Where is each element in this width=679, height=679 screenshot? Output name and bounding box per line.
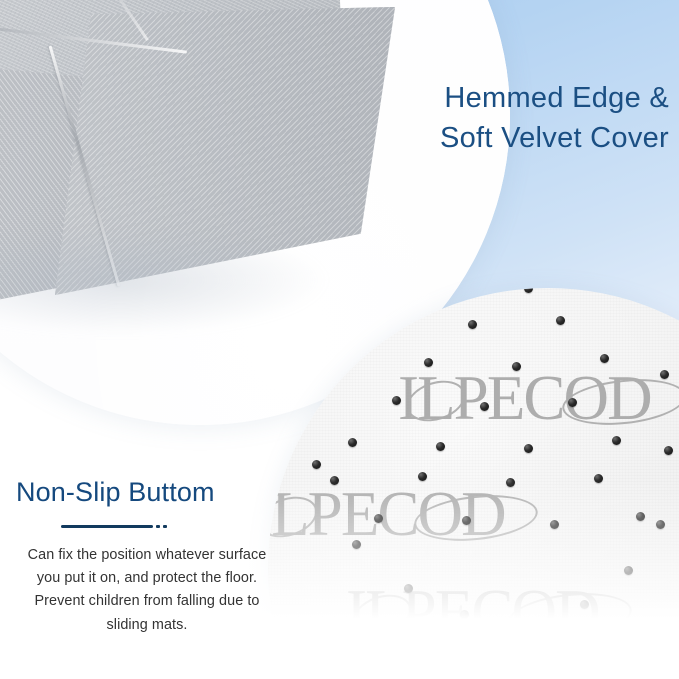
- mat-grip-dot: [380, 312, 389, 321]
- mat-grip-dot: [520, 628, 529, 637]
- mat-grip-dot: [404, 584, 413, 593]
- mat-grip-dot: [568, 398, 577, 407]
- feature-description: Can fix the position whatever surface yo…: [16, 544, 278, 637]
- divider-line: [61, 525, 153, 528]
- watermark-swash: [402, 374, 471, 429]
- mat-grip-dot: [460, 610, 469, 619]
- mat-grip-dot: [556, 316, 565, 325]
- brand-watermark: ILPECOD: [346, 576, 599, 649]
- mat-grip-dot: [506, 478, 515, 487]
- brand-watermark: ILPECOD: [268, 478, 505, 551]
- mat-grip-dot: [524, 444, 533, 453]
- mat-grip-dot: [480, 402, 489, 411]
- mat-grip-dot: [348, 438, 357, 447]
- mat-grip-dot: [424, 358, 433, 367]
- heading-line-2: Soft Velvet Cover: [249, 118, 669, 158]
- mat-grip-dot: [352, 540, 361, 549]
- mat-grip-dot: [594, 474, 603, 483]
- divider-dot: [163, 525, 167, 528]
- product-infographic: ILPECOD ILPECOD ILPECOD Hemmed Edge & So…: [0, 0, 679, 679]
- mat-grip-dot: [418, 472, 427, 481]
- mat-grip-dot: [286, 380, 295, 389]
- watermark-swash: [348, 588, 417, 643]
- mat-grip-dot: [336, 356, 345, 365]
- non-slip-feature-block: Non-Slip Buttom Can fix the position wha…: [16, 478, 278, 637]
- mat-grip-dot: [636, 512, 645, 521]
- mat-grip-dot: [656, 520, 665, 529]
- mat-grip-dot: [580, 600, 589, 609]
- mat-photo-circle: ILPECOD ILPECOD ILPECOD: [268, 288, 679, 679]
- mat-grip-dot: [612, 436, 621, 445]
- mat-grip-dot: [304, 398, 313, 407]
- heading-line-1: Hemmed Edge &: [249, 78, 669, 118]
- hemmed-edge-heading: Hemmed Edge & Soft Velvet Cover: [249, 78, 669, 158]
- mat-grip-dot: [374, 514, 383, 523]
- mat-grip-dot: [624, 566, 633, 575]
- divider-dot: [156, 525, 160, 528]
- mat-grip-dot: [660, 370, 669, 379]
- mat-grip-dot: [292, 318, 301, 327]
- mat-grip-dot: [392, 396, 401, 405]
- mat-grip-dot: [330, 476, 339, 485]
- mat-grip-dot: [664, 446, 673, 455]
- brand-watermark: ILPECOD: [398, 362, 651, 435]
- mat-grip-dot: [272, 300, 281, 309]
- title-divider: [61, 525, 278, 528]
- mat-watermark-group: ILPECOD ILPECOD ILPECOD: [268, 288, 679, 679]
- mat-grip-dot: [648, 296, 657, 305]
- mat-grip-dot: [312, 460, 321, 469]
- mat-grip-dot: [600, 354, 609, 363]
- watermark-swash: [412, 490, 540, 547]
- mat-grip-dot: [512, 362, 521, 371]
- feature-title: Non-Slip Buttom: [16, 478, 278, 508]
- mat-grip-dot: [468, 320, 477, 329]
- mat-grip-dot: [462, 516, 471, 525]
- watermark-swash: [560, 374, 679, 431]
- mat-grip-dot: [436, 442, 445, 451]
- mat-grip-dot: [550, 520, 559, 529]
